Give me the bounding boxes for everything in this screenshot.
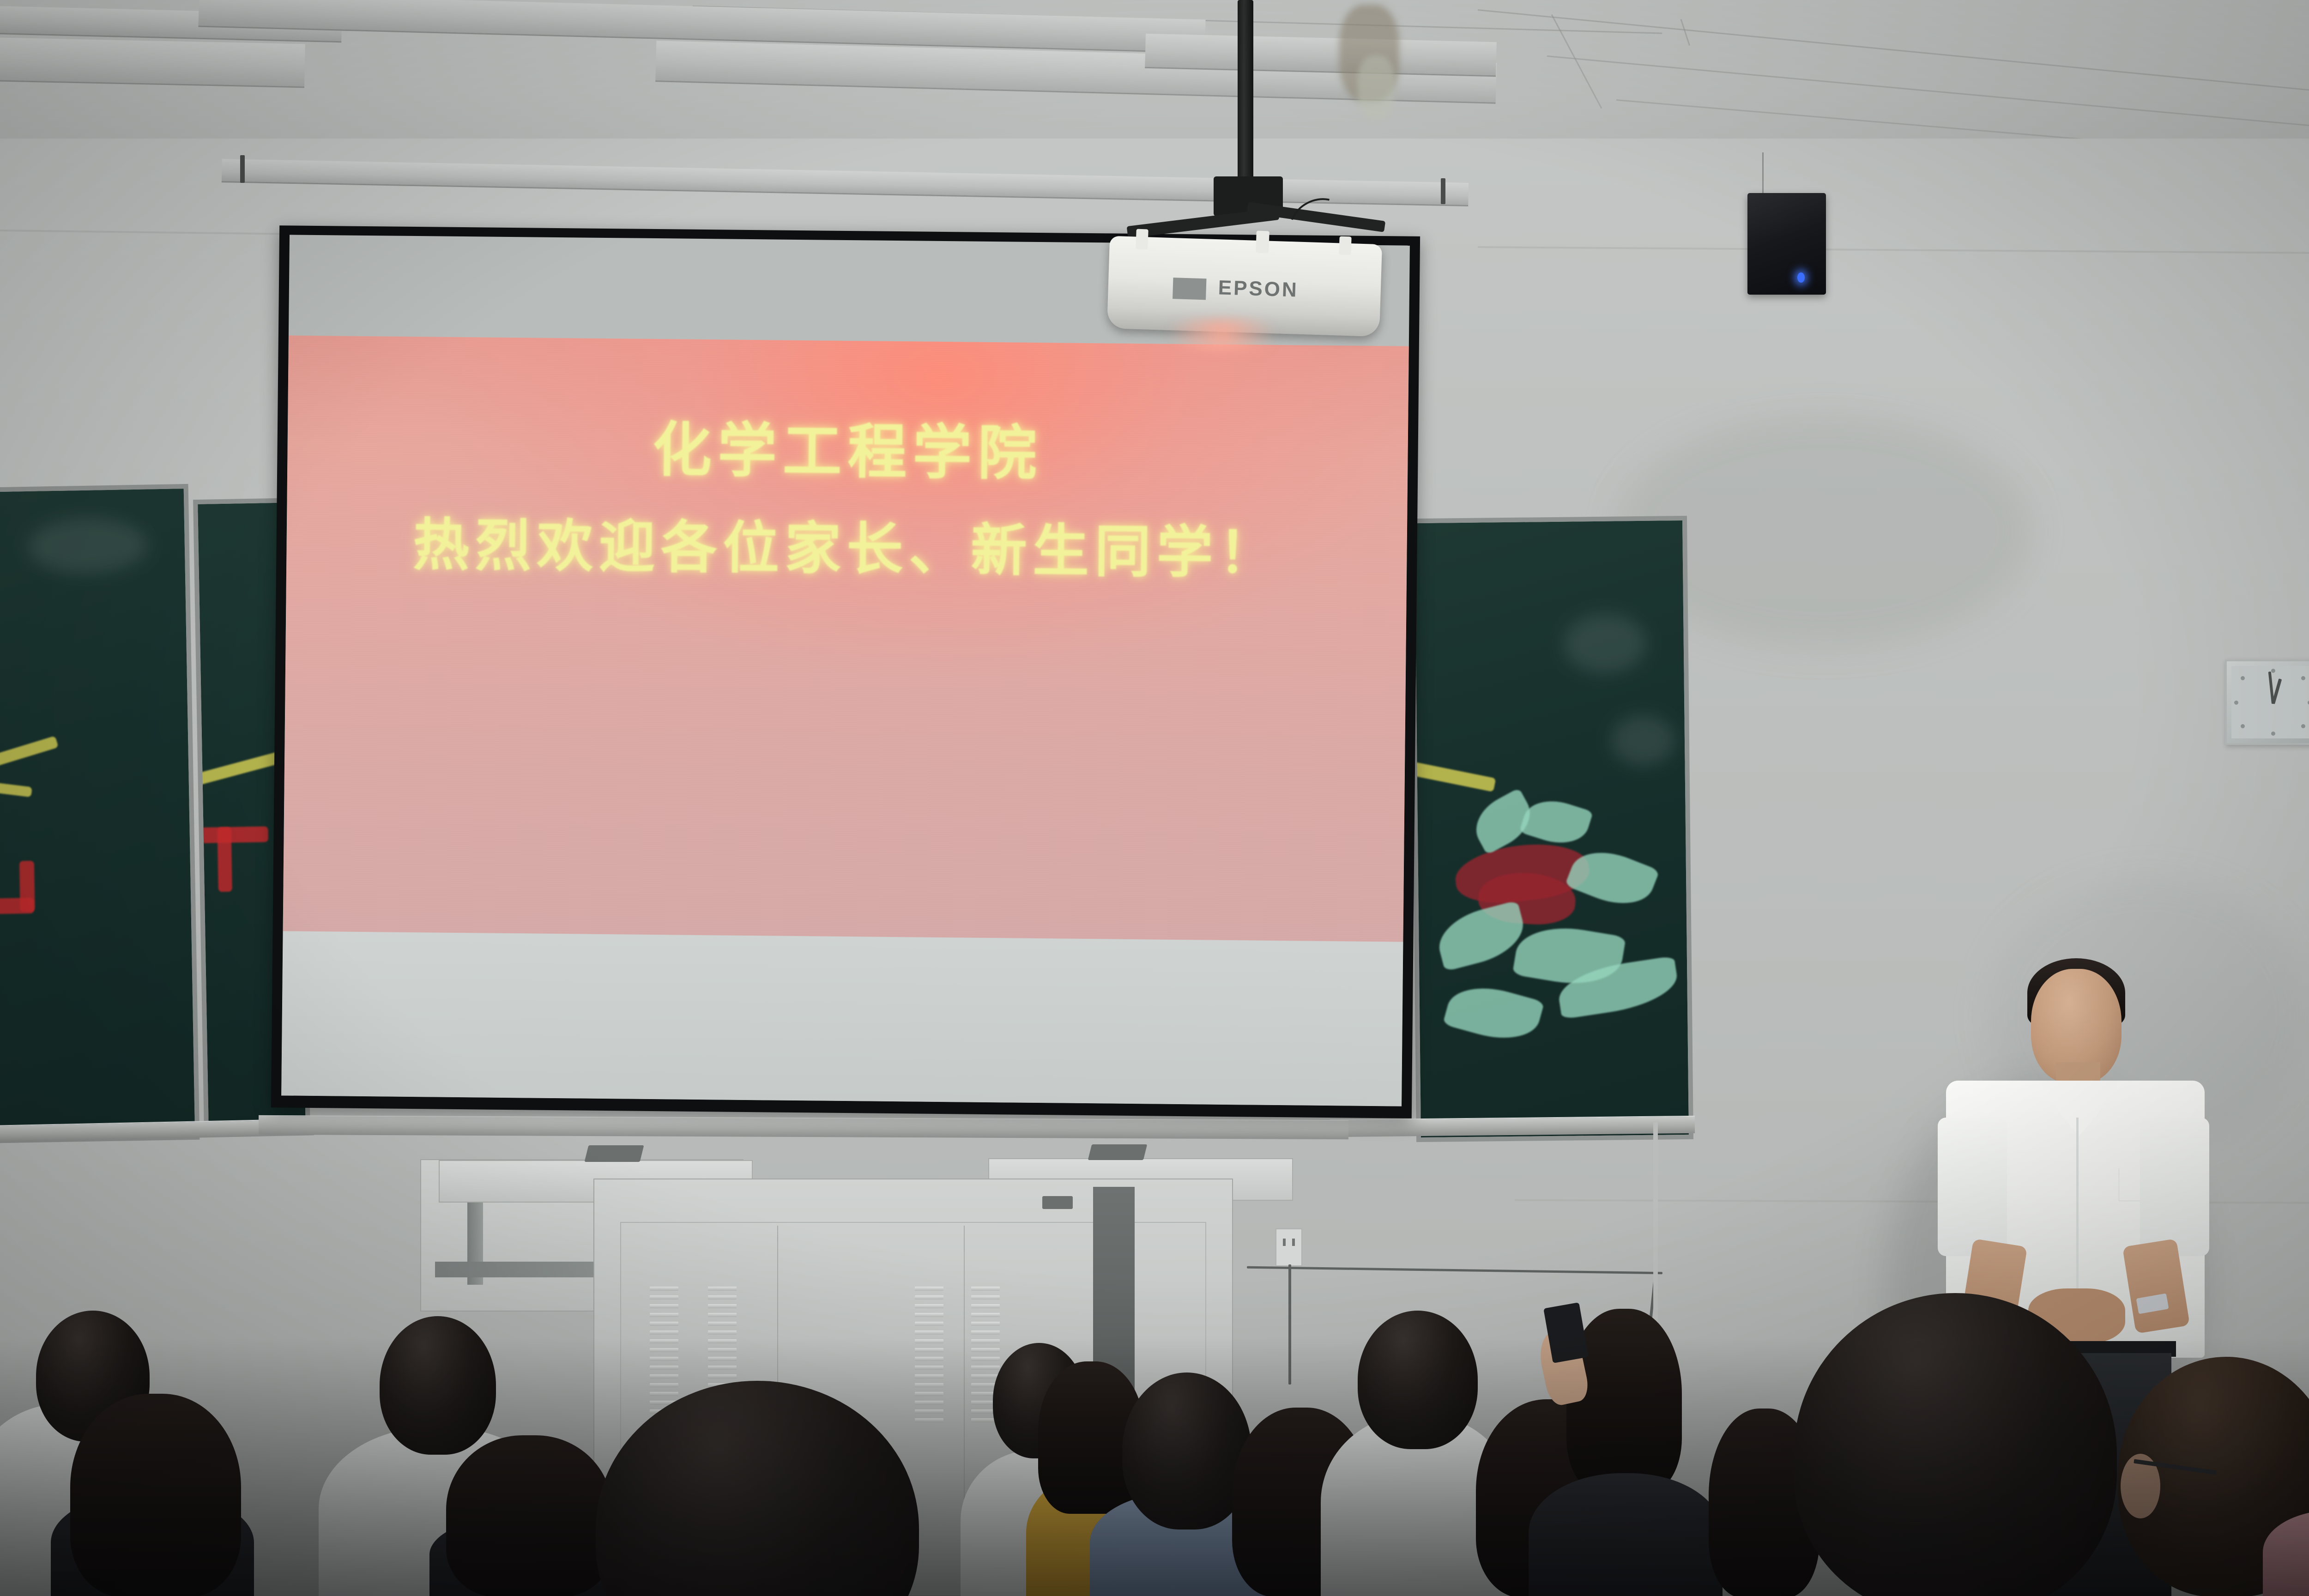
audience-head bbox=[1358, 1311, 1478, 1449]
chalk-dust bbox=[1610, 714, 1675, 766]
slide-welcome-line: 热烈欢迎各位家长、新生同学！ bbox=[286, 498, 1408, 590]
projector-foot bbox=[1339, 236, 1351, 255]
clock-hour-mark bbox=[2241, 724, 2245, 728]
clock-hour-mark bbox=[2301, 724, 2305, 728]
speaker-wire bbox=[1762, 152, 1764, 194]
projector-logo-mark bbox=[1173, 278, 1206, 300]
clock-hour-mark bbox=[2241, 676, 2245, 680]
clock-face bbox=[2231, 666, 2309, 738]
chalk-dust bbox=[27, 517, 148, 574]
presenter-sleeve-right bbox=[2140, 1118, 2209, 1256]
projection-screen: 化学工程学院 热烈欢迎各位家长、新生同学！ bbox=[271, 225, 1420, 1118]
chalk-mark bbox=[19, 861, 35, 912]
lectern-top-fitting bbox=[1088, 1144, 1147, 1160]
lectern-top-fitting bbox=[585, 1145, 644, 1162]
lectern-brand-plate bbox=[1042, 1196, 1073, 1209]
chalk-leaf bbox=[1565, 840, 1660, 915]
chalk-mark bbox=[1410, 757, 1496, 792]
batten-hook bbox=[1441, 178, 1445, 204]
chalk-dust bbox=[1563, 613, 1647, 674]
clock-hour-mark bbox=[2234, 701, 2238, 705]
classroom-scene: 化学工程学院 热烈欢迎各位家长、新生同学！ EPSON bbox=[0, 0, 2309, 1596]
projector-brand-label: EPSON bbox=[1218, 276, 1299, 302]
ceiling-hanging-decor bbox=[1358, 55, 1395, 120]
chalk-leaf bbox=[1519, 792, 1594, 852]
chalk-mark bbox=[217, 827, 232, 892]
clock-hour-mark bbox=[2271, 731, 2275, 736]
projector-foot bbox=[1136, 229, 1148, 250]
chalk-mark bbox=[199, 826, 268, 843]
projector-lens-glow bbox=[1145, 319, 1298, 351]
clock-minute-hand bbox=[2268, 671, 2274, 704]
ceiling-light-fixture bbox=[0, 37, 305, 88]
screen-bottom-band bbox=[281, 931, 1403, 1106]
wall-outlet[interactable] bbox=[1275, 1228, 1302, 1266]
wall-clock bbox=[2225, 659, 2309, 745]
blackboard-right bbox=[1410, 516, 1693, 1142]
projected-slide: 化学工程学院 热烈欢迎各位家长、新生同学！ bbox=[283, 335, 1409, 942]
clock-hour-mark bbox=[2271, 669, 2275, 673]
power-cable bbox=[1288, 1264, 1291, 1384]
batten-hook bbox=[240, 155, 245, 183]
projector-mount-pole bbox=[1238, 0, 1253, 194]
projector-foot bbox=[1256, 231, 1269, 254]
wall-speaker bbox=[1747, 193, 1826, 295]
chalk-mark bbox=[193, 750, 285, 786]
chalk-mark bbox=[0, 779, 32, 797]
clock-hour-mark bbox=[2301, 676, 2305, 680]
audience-head bbox=[380, 1316, 496, 1455]
chalk-leaf bbox=[1443, 978, 1545, 1049]
audience-hair bbox=[70, 1394, 241, 1596]
presenter-sleeve-left bbox=[1938, 1118, 2007, 1256]
slide-title-line: 化学工程学院 bbox=[287, 398, 1408, 494]
blackboard-left bbox=[0, 484, 199, 1143]
conduit-pipe bbox=[1653, 1122, 1658, 1325]
speaker-power-led bbox=[1797, 272, 1805, 283]
audience-shoulders bbox=[1529, 1473, 1723, 1596]
lectern-vent-louver bbox=[915, 1287, 943, 1427]
chalk-mark bbox=[0, 736, 59, 777]
screen-surface: 化学工程学院 热烈欢迎各位家长、新生同学！ bbox=[281, 235, 1410, 1106]
audience-hair bbox=[446, 1435, 612, 1596]
